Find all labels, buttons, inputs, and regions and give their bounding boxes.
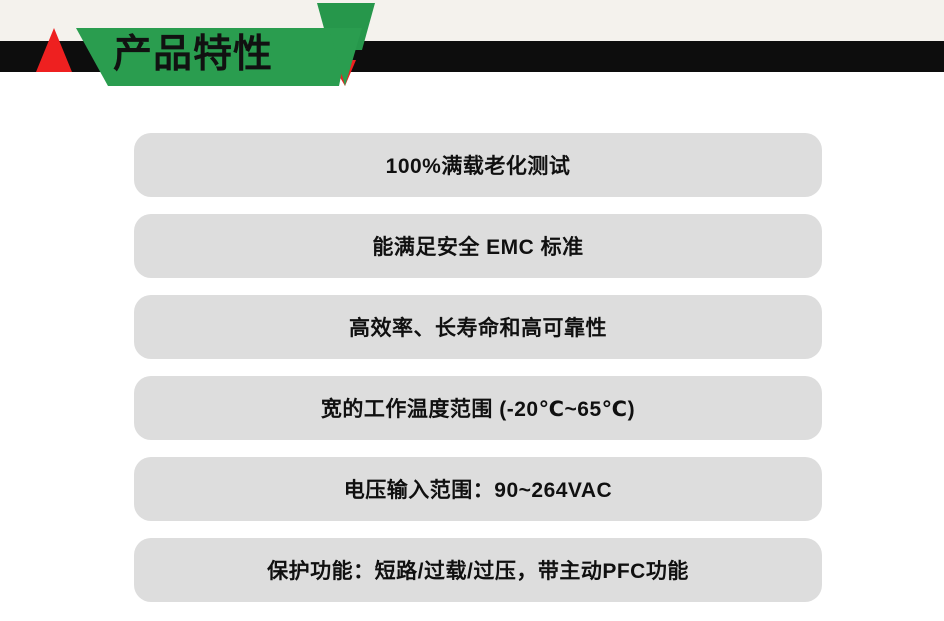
feature-label: 保护功能：短路/过载/过压，带主动PFC功能 — [267, 555, 689, 585]
page-title: 产品特性 — [113, 31, 273, 79]
list-item: 电压输入范围：90~264VAC — [134, 457, 822, 521]
list-item: 宽的工作温度范围 (-20℃~65℃) — [134, 376, 822, 440]
page-banner: 产品特性 — [0, 0, 944, 110]
list-item: 能满足安全 EMC 标准 — [134, 214, 822, 278]
feature-label: 高效率、长寿命和高可靠性 — [349, 312, 607, 342]
feature-label: 100%满载老化测试 — [386, 150, 571, 180]
feature-label: 电压输入范围：90~264VAC — [344, 474, 612, 504]
list-item: 保护功能：短路/过载/过压，带主动PFC功能 — [134, 538, 822, 602]
feature-label: 能满足安全 EMC 标准 — [372, 231, 583, 261]
feature-label: 宽的工作温度范围 (-20℃~65℃) — [321, 393, 635, 423]
ribbon-left-red-fold — [36, 28, 72, 72]
list-item: 高效率、长寿命和高可靠性 — [134, 295, 822, 359]
list-item: 100%满载老化测试 — [134, 133, 822, 197]
feature-list: 100%满载老化测试 能满足安全 EMC 标准 高效率、长寿命和高可靠性 宽的工… — [134, 133, 822, 619]
